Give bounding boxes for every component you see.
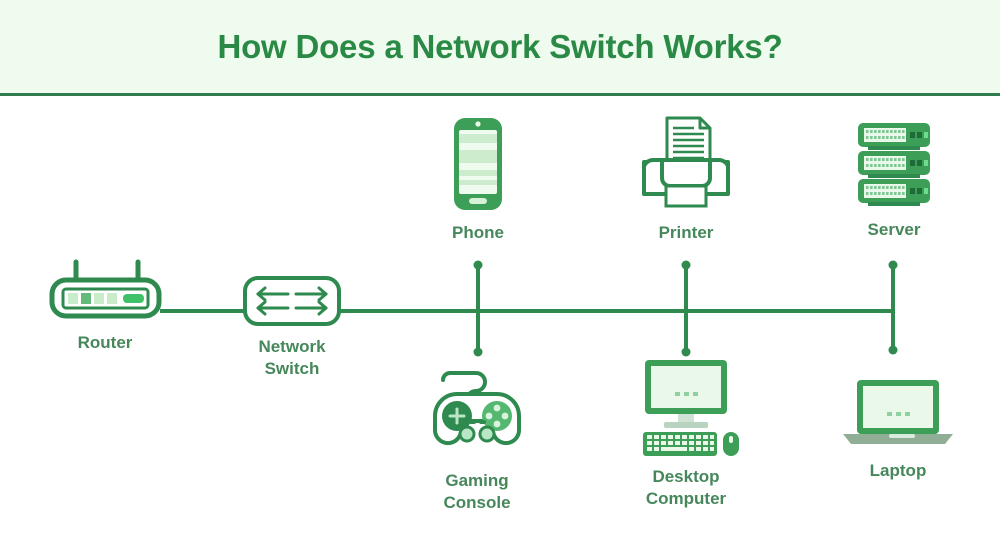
network-switch-icon: [242, 274, 342, 328]
node-laptop[interactable]: Laptop: [822, 378, 974, 482]
switch-label-line1: Network: [258, 337, 325, 356]
phone-icon-wrap: [418, 116, 538, 212]
desktop-label-line2: Computer: [646, 489, 726, 508]
node-router[interactable]: Router: [30, 256, 180, 354]
router-icon-wrap: [30, 256, 180, 326]
node-phone[interactable]: Phone: [418, 116, 538, 244]
wire-endpoint-printer: [682, 261, 691, 270]
printer-icon-wrap: [622, 116, 750, 212]
node-label-network-switch: NetworkSwitch: [222, 336, 362, 380]
laptop-icon-wrap: [822, 378, 974, 450]
phone-icon: [447, 116, 509, 212]
printer-icon: [636, 116, 736, 212]
desktop-label-line1: Desktop: [652, 467, 719, 486]
laptop-icon: [833, 378, 963, 450]
node-server[interactable]: Server: [832, 121, 956, 241]
node-label-gaming-console: GamingConsole: [414, 470, 540, 514]
router-icon: [46, 256, 164, 326]
node-network-switch[interactable]: NetworkSwitch: [222, 274, 362, 380]
node-gaming-console[interactable]: GamingConsole: [414, 368, 540, 514]
node-label-printer: Printer: [622, 222, 750, 244]
console-label-line1: Gaming: [445, 471, 508, 490]
node-desktop-computer[interactable]: DesktopComputer: [620, 358, 752, 510]
server-icon-wrap: [832, 121, 956, 207]
wire-endpoint-phone: [474, 261, 483, 270]
desktop-computer-icon: [631, 358, 741, 458]
network-diagram: How Does a Network Switch Works?: [0, 0, 1000, 552]
wire-endpoint-desktop: [682, 348, 691, 357]
node-label-router: Router: [30, 332, 180, 354]
gamepad-icon: [427, 368, 527, 460]
network-switch-icon-wrap: [222, 274, 362, 328]
server-icon: [854, 121, 934, 207]
wire-endpoint-console: [474, 348, 483, 357]
node-label-server: Server: [832, 219, 956, 241]
diagram-canvas: Router: [0, 96, 1000, 552]
desktop-computer-icon-wrap: [620, 358, 752, 458]
wire-endpoint-server: [889, 261, 898, 270]
node-printer[interactable]: Printer: [622, 116, 750, 244]
node-label-desktop-computer: DesktopComputer: [620, 466, 752, 510]
console-label-line2: Console: [443, 493, 510, 512]
page-title: How Does a Network Switch Works?: [217, 28, 782, 66]
header-banner: How Does a Network Switch Works?: [0, 0, 1000, 94]
switch-label-line2: Switch: [265, 359, 320, 378]
node-label-phone: Phone: [418, 222, 538, 244]
gamepad-icon-wrap: [414, 368, 540, 460]
node-label-laptop: Laptop: [822, 460, 974, 482]
wire-endpoint-laptop: [889, 346, 898, 355]
